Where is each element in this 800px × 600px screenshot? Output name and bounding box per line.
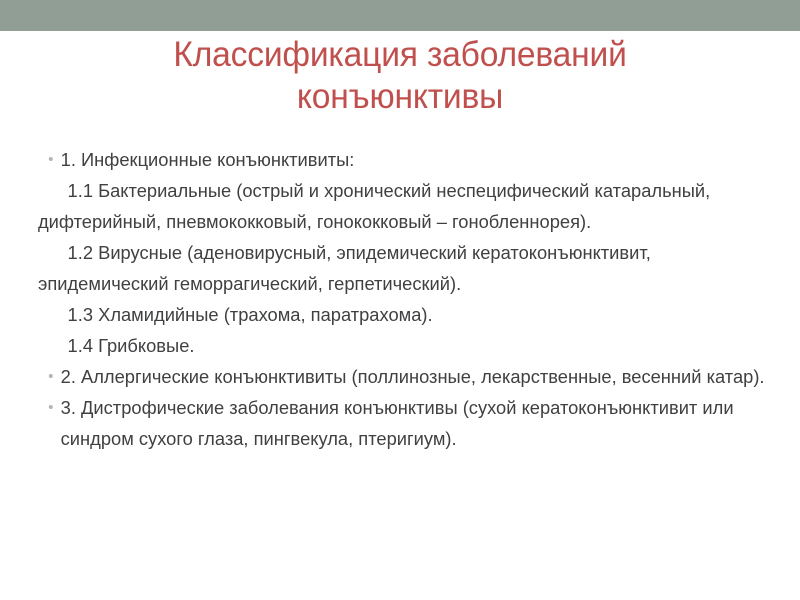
sub-list-item: 1.2 Вирусные (аденовирусный, эпидемическ… bbox=[38, 237, 769, 299]
list-item: 2. Аллергические конъюнктивиты (поллиноз… bbox=[38, 361, 769, 392]
bullet-icon bbox=[49, 374, 53, 378]
list-item-text: 1.1 Бактериальные (острый и хронический … bbox=[38, 180, 710, 232]
slide-title: Классификация заболеваний конъюнктивы bbox=[16, 34, 784, 118]
list-item-text: 1.3 Хламидийные (трахома, паратрахома). bbox=[68, 304, 433, 325]
sub-list-item: 1.1 Бактериальные (острый и хронический … bbox=[38, 175, 769, 237]
list-item-text: 1.4 Грибковые. bbox=[68, 335, 195, 356]
sub-list-item: 1.3 Хламидийные (трахома, паратрахома). bbox=[38, 299, 769, 330]
bullet-icon bbox=[49, 157, 53, 161]
list-item: 1. Инфекционные конъюнктивиты: bbox=[38, 144, 769, 175]
list-item: 3. Дистрофические заболевания конъюнктив… bbox=[38, 392, 769, 454]
list-item-text: 3. Дистрофические заболевания конъюнктив… bbox=[61, 397, 734, 449]
top-decorative-band bbox=[0, 0, 800, 31]
list-item-text: 2. Аллергические конъюнктивиты (поллиноз… bbox=[61, 366, 765, 387]
list-item-text: 1. Инфекционные конъюнктивиты: bbox=[61, 149, 355, 170]
slide-body: 1. Инфекционные конъюнктивиты:1.1 Бактер… bbox=[38, 144, 769, 454]
list-item-text: 1.2 Вирусные (аденовирусный, эпидемическ… bbox=[38, 242, 651, 294]
sub-list-item: 1.4 Грибковые. bbox=[38, 330, 769, 361]
bullet-icon bbox=[49, 405, 53, 409]
